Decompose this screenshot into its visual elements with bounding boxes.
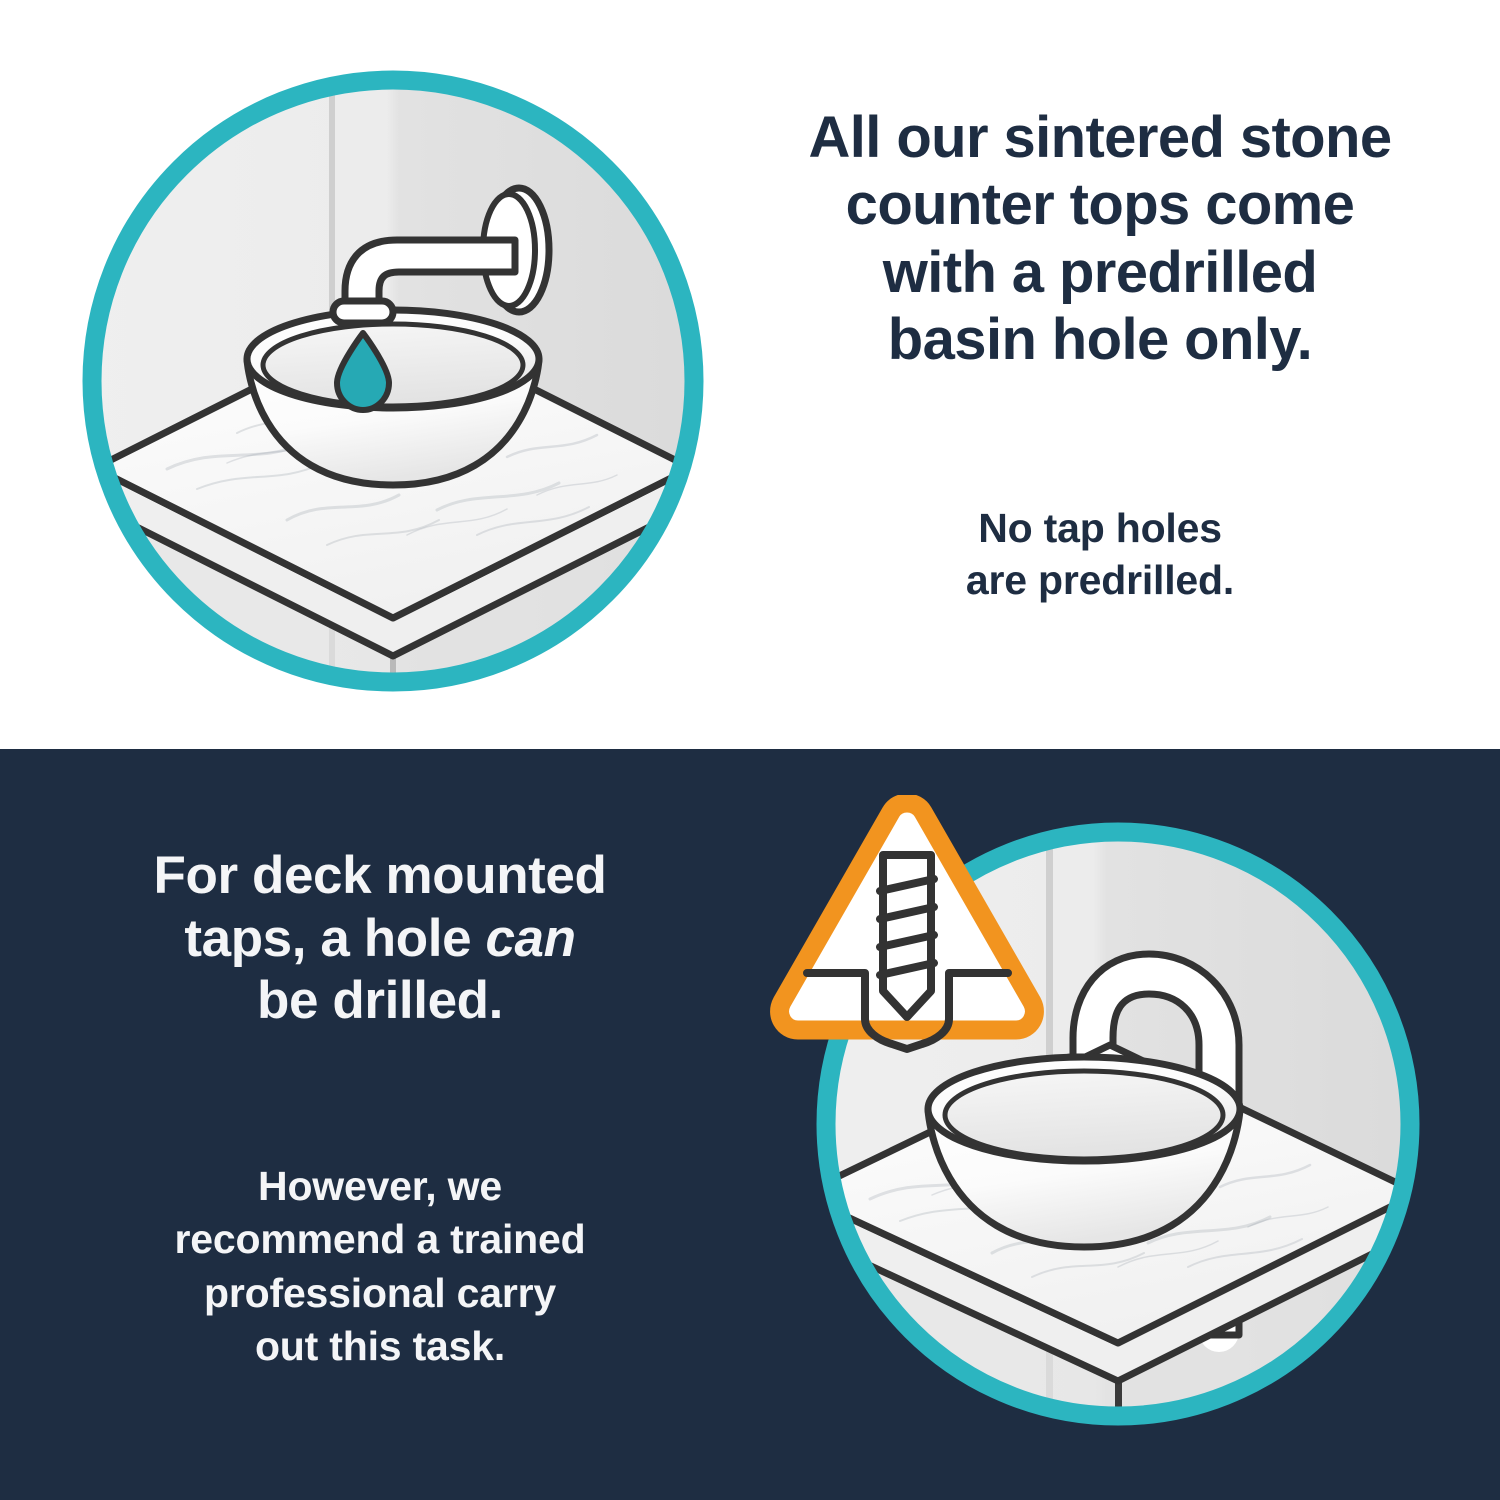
top-panel: All our sintered stone counter tops come… (0, 0, 1500, 749)
headline-line-2-prefix: taps, a hole (184, 909, 485, 968)
headline-line-2: counter tops come (720, 171, 1480, 238)
headline-emphasis-can: can (485, 909, 575, 968)
subtext-line-1: No tap holes (780, 502, 1420, 554)
infographic-page: All our sintered stone counter tops come… (0, 0, 1500, 1500)
bottom-subtext: However, we recommend a trained professi… (50, 1160, 710, 1373)
subtext-line-2: recommend a trained (50, 1213, 710, 1266)
headline-line-1: All our sintered stone (720, 104, 1480, 171)
subtext-line-2: are predrilled. (780, 554, 1420, 606)
bottom-headline: For deck mounted taps, a hole can be dri… (40, 845, 720, 1033)
headline-line-2: taps, a hole can (40, 908, 720, 971)
headline-line-4: basin hole only. (720, 306, 1480, 373)
subtext-line-3: professional carry (50, 1267, 710, 1320)
top-headline: All our sintered stone counter tops come… (720, 104, 1480, 373)
headline-line-3: with a predrilled (720, 239, 1480, 306)
warning-triangle-drill-icon (780, 803, 1035, 1049)
top-subtext: No tap holes are predrilled. (780, 502, 1420, 607)
illustration-scene (77, 65, 709, 697)
subtext-line-1: However, we (50, 1160, 710, 1213)
headline-line-1: For deck mounted (40, 845, 720, 908)
deck-mounted-tap-illustration (770, 795, 1430, 1435)
wall-mounted-tap-illustration (77, 65, 709, 697)
subtext-line-4: out this task. (50, 1320, 710, 1373)
headline-line-3: be drilled. (40, 970, 720, 1033)
